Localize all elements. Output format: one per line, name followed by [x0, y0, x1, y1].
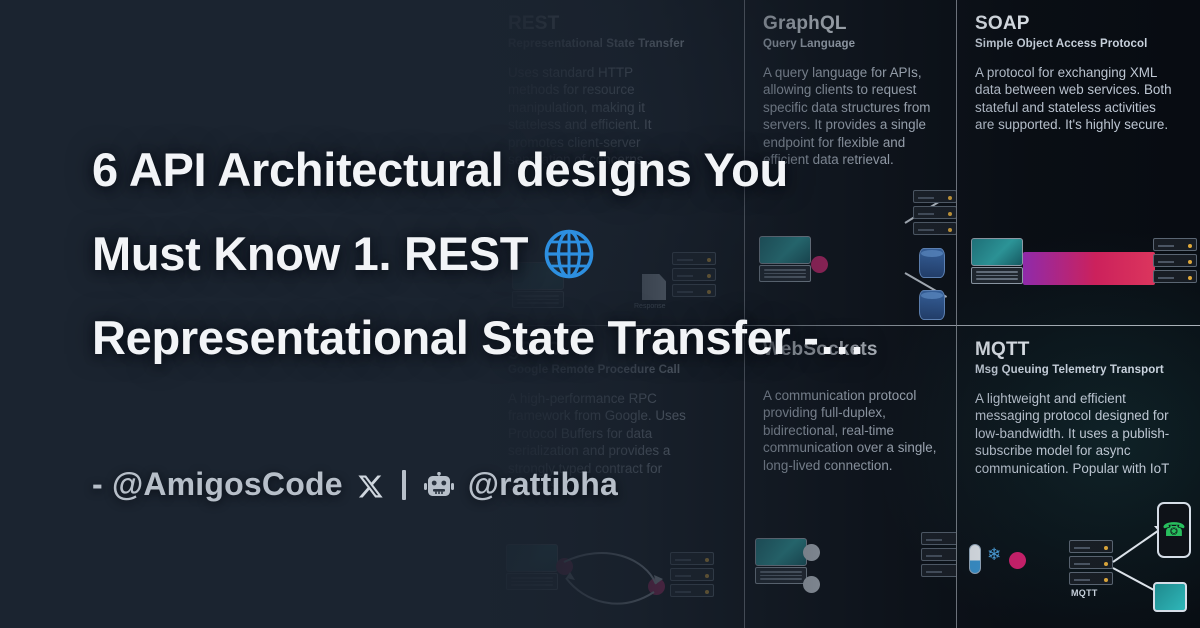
- headline-line-2: Must Know 1. REST: [92, 227, 541, 280]
- x-logo-icon: [357, 471, 384, 498]
- robot-icon: [422, 471, 456, 499]
- globe-icon: [543, 222, 595, 274]
- attribution-source: @rattibha: [468, 466, 618, 503]
- headline-line-3: Representational State Transfer -…: [92, 311, 865, 364]
- page-title: 6 API Architectural designs YouMust Know…: [92, 128, 992, 380]
- separator: [402, 470, 406, 500]
- attribution-author: - @AmigosCode: [92, 466, 343, 503]
- attribution: - @AmigosCode: [92, 466, 618, 503]
- foreground-content: 6 API Architectural designs YouMust Know…: [0, 0, 1200, 628]
- social-preview-card: REST Representational State Transfer Use…: [0, 0, 1200, 628]
- headline-line-1: 6 API Architectural designs You: [92, 143, 788, 196]
